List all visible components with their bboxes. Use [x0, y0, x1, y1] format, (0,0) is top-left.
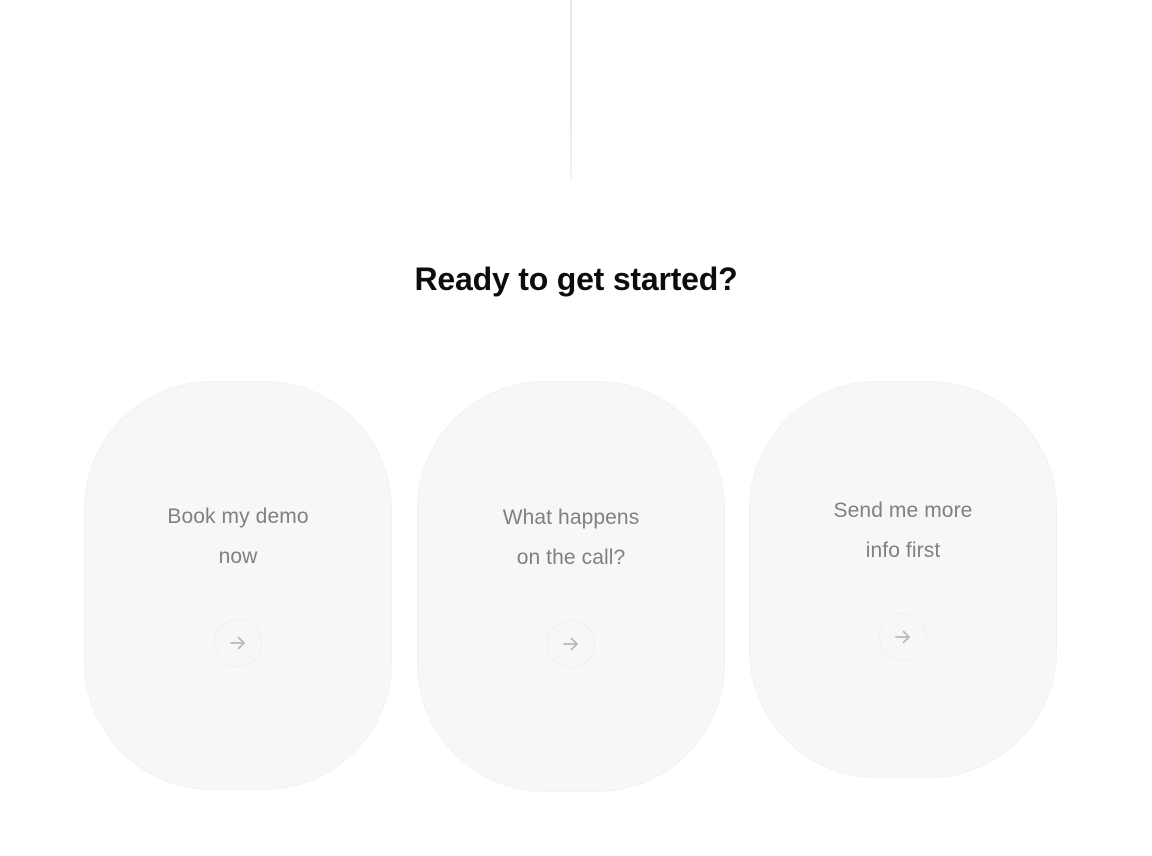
arrow-right-icon[interactable]: [214, 619, 262, 667]
cta-card-content: Book my demo now: [85, 497, 391, 667]
vertical-connector-line: [570, 0, 572, 179]
arrow-right-icon[interactable]: [879, 613, 927, 661]
cta-card-label: Book my demo now: [167, 497, 308, 577]
cta-card-send-info[interactable]: Send me more info first: [749, 381, 1057, 778]
cta-card-content: Send me more info first: [750, 491, 1056, 661]
cta-card-book-demo[interactable]: Book my demo now: [84, 381, 392, 790]
page-title: Ready to get started?: [0, 258, 1152, 300]
cta-card-content: What happens on the call?: [418, 498, 724, 668]
cta-card-what-happens[interactable]: What happens on the call?: [417, 381, 725, 792]
cta-card-row: Book my demo now What happens on the cal…: [84, 381, 1057, 793]
cta-card-label: What happens on the call?: [503, 498, 640, 578]
cta-card-label: Send me more info first: [834, 491, 973, 571]
arrow-right-icon[interactable]: [547, 620, 595, 668]
